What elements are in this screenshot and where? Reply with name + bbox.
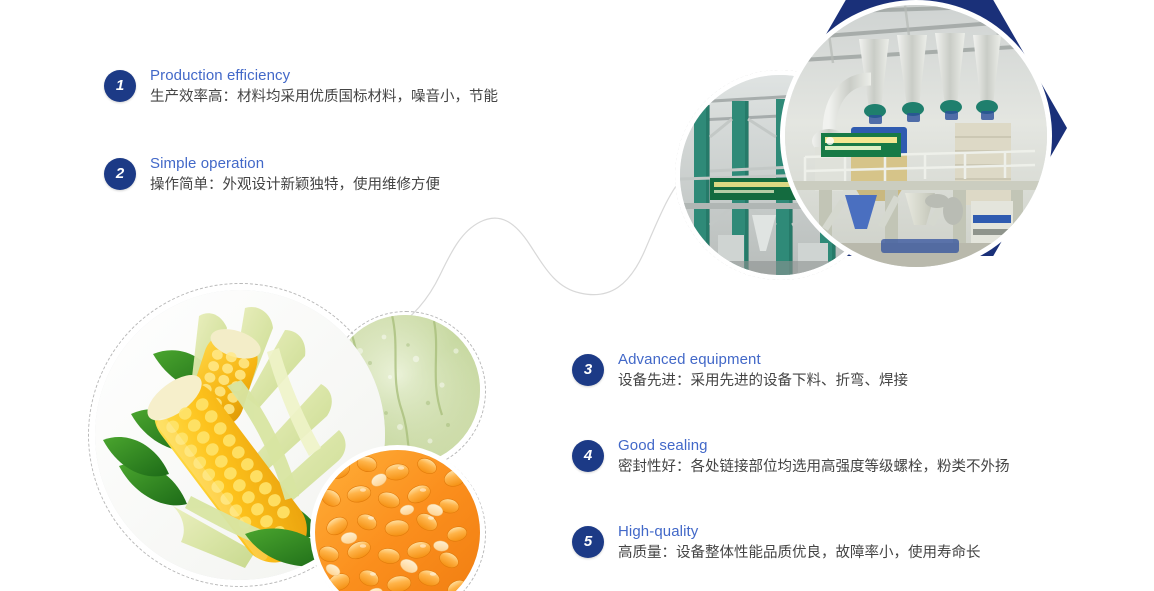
feature-desc-2: 操作简单：外观设计新颖独特，使用维修方便 — [150, 175, 574, 196]
feature-desc-5: 高质量：设备整体性能品质优良，故障率小，使用寿命长 — [618, 543, 1132, 564]
feature-number-badge-5: 5 — [572, 526, 604, 558]
feature-title-1: Production efficiency — [150, 66, 574, 85]
photo-factory-main — [785, 5, 1047, 267]
feature-number-badge-1: 1 — [104, 70, 136, 102]
corn-image-cluster — [85, 280, 485, 591]
feature-desc-3: 设备先进：采用先进的设备下料、折弯、焊接 — [618, 371, 1132, 392]
feature-number-badge-3: 3 — [572, 354, 604, 386]
feature-title-2: Simple operation — [150, 154, 574, 173]
feature-list-top: 1 Production efficiency 生产效率高：材料均采用优质国标材… — [104, 66, 574, 200]
feature-item-3[interactable]: 3 Advanced equipment 设备先进：采用先进的设备下料、折弯、焊… — [572, 350, 1132, 396]
feature-number-badge-2: 2 — [104, 158, 136, 190]
factory-image-cluster — [660, 0, 1154, 290]
feature-desc-4: 密封性好：各处链接部位均选用高强度等级螺栓，粉类不外扬 — [618, 457, 1132, 478]
feature-item-2[interactable]: 2 Simple operation 操作简单：外观设计新颖独特，使用维修方便 — [104, 154, 574, 200]
feature-item-4[interactable]: 4 Good sealing 密封性好：各处链接部位均选用高强度等级螺栓，粉类不… — [572, 436, 1132, 482]
feature-item-5[interactable]: 5 High-quality 高质量：设备整体性能品质优良，故障率小，使用寿命长 — [572, 522, 1132, 568]
feature-number-badge-4: 4 — [572, 440, 604, 472]
feature-title-5: High-quality — [618, 522, 1132, 541]
feature-infographic: 1 Production efficiency 生产效率高：材料均采用优质国标材… — [0, 0, 1154, 591]
feature-title-3: Advanced equipment — [618, 350, 1132, 369]
feature-list-bottom: 3 Advanced equipment 设备先进：采用先进的设备下料、折弯、焊… — [572, 350, 1132, 568]
feature-item-1[interactable]: 1 Production efficiency 生产效率高：材料均采用优质国标材… — [104, 66, 574, 112]
feature-title-4: Good sealing — [618, 436, 1132, 455]
feature-desc-1: 生产效率高：材料均采用优质国标材料，噪音小，节能 — [150, 87, 574, 108]
